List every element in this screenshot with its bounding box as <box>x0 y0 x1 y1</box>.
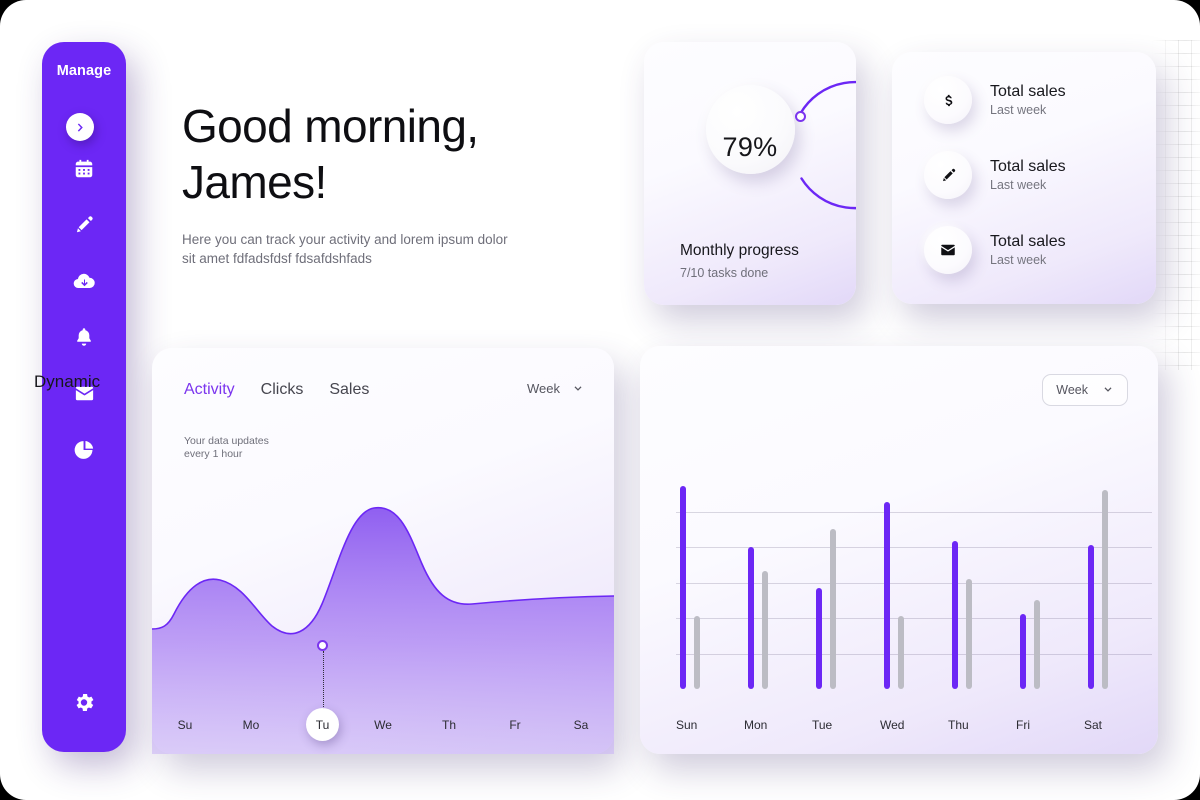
greeting-block: Good morning, James! Here you can track … <box>182 98 602 268</box>
x-label: Fri <box>1016 718 1084 732</box>
activity-period-value: Week <box>527 381 560 396</box>
bar-thu-previous[interactable] <box>966 579 972 689</box>
dashboard-root: Manage <box>0 0 1200 800</box>
bar-sun-current[interactable] <box>680 486 686 689</box>
x-label: Sat <box>1084 718 1152 732</box>
stat-row-3[interactable]: Total sales Last week <box>924 226 1066 274</box>
progress-ring-handle[interactable] <box>795 111 806 122</box>
greeting-line-2: James! <box>182 156 327 208</box>
x-label: Mo <box>218 718 284 732</box>
x-label: Sa <box>548 718 614 732</box>
bar-sat-previous[interactable] <box>1102 490 1108 689</box>
x-label: We <box>350 718 416 732</box>
x-label: Th <box>416 718 482 732</box>
dynamic-bar-chart <box>640 476 1158 701</box>
bar-sat-current[interactable] <box>1088 545 1094 689</box>
background-grid-texture <box>1152 40 1200 370</box>
bars-layer <box>676 476 1152 689</box>
brand-title: Manage <box>57 63 112 79</box>
progress-percent: 79% <box>644 60 856 235</box>
stat-title: Total sales <box>990 158 1066 176</box>
activity-selected-point-label[interactable]: Tu <box>306 708 339 741</box>
sidebar-item-edit[interactable] <box>72 213 96 237</box>
pencil-icon <box>924 151 972 199</box>
activity-card: Activity Clicks Sales Week Your data upd… <box>152 348 614 754</box>
activity-x-labels: Su Mo Tu We Th Fr Sa <box>152 718 614 732</box>
sidebar-nav <box>72 157 96 461</box>
sidebar-item-notifications[interactable] <box>72 325 96 349</box>
activity-selected-point-dot[interactable] <box>317 640 328 651</box>
progress-subtitle: 7/10 tasks done <box>680 266 768 280</box>
dynamic-x-labels: Sun Mon Tue Wed Thu Fri Sat <box>676 718 1152 732</box>
sidebar-item-calendar[interactable] <box>72 157 96 181</box>
sidebar: Manage <box>42 42 126 752</box>
stat-subtitle: Last week <box>990 103 1066 117</box>
stat-row-2[interactable]: Total sales Last week <box>924 151 1066 199</box>
activity-tabs: Activity Clicks Sales <box>184 381 369 399</box>
tab-clicks[interactable]: Clicks <box>261 381 304 399</box>
activity-area-chart <box>152 454 614 754</box>
dynamic-card: Week Sun Mon Tue Wed Thu Fri Sat <box>640 346 1158 754</box>
x-label: Tue <box>812 718 880 732</box>
bar-wed-previous[interactable] <box>898 616 904 689</box>
chevron-down-icon <box>572 383 584 395</box>
dynamic-period-selector[interactable]: Week <box>1042 374 1128 406</box>
dollar-icon <box>924 76 972 124</box>
chevron-right-icon <box>74 121 87 134</box>
sidebar-item-settings[interactable] <box>72 690 96 714</box>
x-label: Mon <box>744 718 812 732</box>
sidebar-item-cloud[interactable] <box>72 269 96 293</box>
activity-selected-point-line <box>323 651 324 711</box>
x-label: Sun <box>676 718 744 732</box>
sidebar-expand-button[interactable] <box>66 113 94 141</box>
monthly-progress-card: 79% Monthly progress 7/10 tasks done <box>644 42 856 305</box>
activity-period-selector[interactable]: Week <box>527 381 584 396</box>
dynamic-card-title: Dynamic <box>34 372 100 392</box>
x-label: Fr <box>482 718 548 732</box>
progress-title: Monthly progress <box>680 242 799 260</box>
greeting-line-1: Good morning, <box>182 100 478 152</box>
bar-sun-previous[interactable] <box>694 616 700 689</box>
stat-title: Total sales <box>990 83 1066 101</box>
sidebar-item-reports[interactable] <box>72 437 96 461</box>
x-label: Wed <box>880 718 948 732</box>
bar-tue-previous[interactable] <box>830 529 836 689</box>
tab-activity[interactable]: Activity <box>184 381 235 399</box>
dynamic-period-value: Week <box>1056 383 1088 397</box>
greeting-description: Here you can track your activity and lor… <box>182 230 512 268</box>
total-sales-card: Total sales Last week Total sales Last w… <box>892 52 1156 304</box>
tab-sales[interactable]: Sales <box>329 381 369 399</box>
stat-subtitle: Last week <box>990 178 1066 192</box>
progress-ring: 79% <box>644 60 856 235</box>
bar-wed-current[interactable] <box>884 502 890 689</box>
bar-tue-current[interactable] <box>816 588 822 689</box>
x-label: Su <box>152 718 218 732</box>
stat-row-1[interactable]: Total sales Last week <box>924 76 1066 124</box>
bar-thu-current[interactable] <box>952 541 958 689</box>
bar-mon-previous[interactable] <box>762 571 768 689</box>
bar-mon-current[interactable] <box>748 547 754 689</box>
x-label: Thu <box>948 718 1016 732</box>
stat-subtitle: Last week <box>990 253 1066 267</box>
page-title: Good morning, James! <box>182 98 602 210</box>
envelope-icon <box>924 226 972 274</box>
bar-fri-current[interactable] <box>1020 614 1026 689</box>
stat-title: Total sales <box>990 233 1066 251</box>
chevron-down-icon <box>1102 384 1114 396</box>
bar-fri-previous[interactable] <box>1034 600 1040 689</box>
hint-line-1: Your data updates <box>184 435 269 448</box>
